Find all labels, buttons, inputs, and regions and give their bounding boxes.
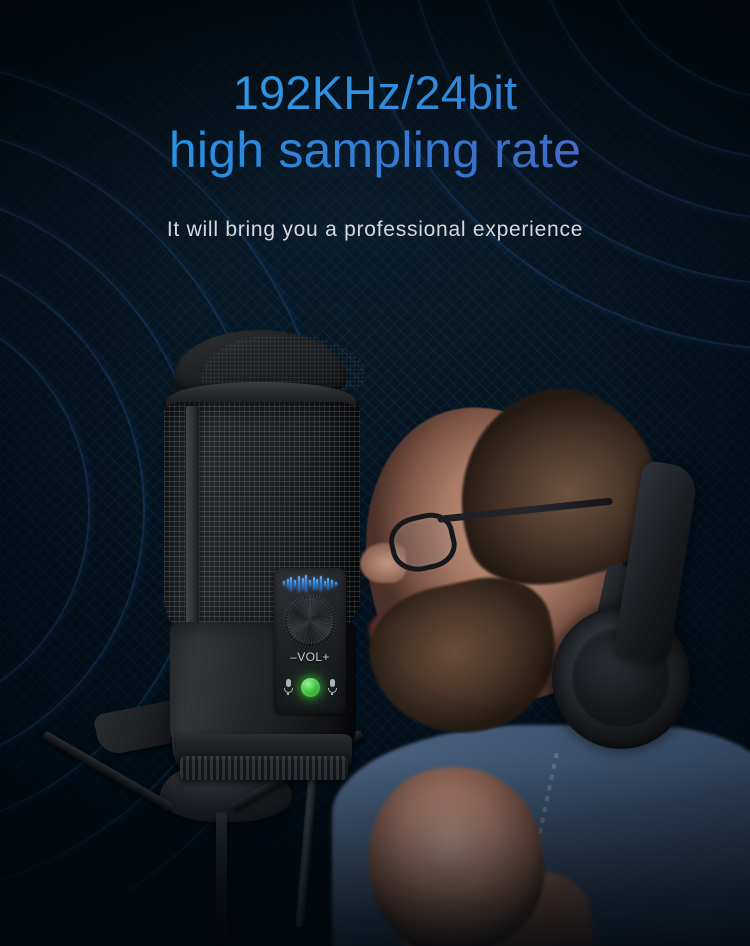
mute-button-row xyxy=(280,672,340,702)
volume-label: –VOL+ xyxy=(274,650,346,664)
shock-mount-knurled-ring[interactable] xyxy=(180,756,348,780)
product-banner: –VOL+ 192KHz/24bit high sampling xyxy=(0,0,750,946)
microphone: –VOL+ xyxy=(150,330,380,800)
headline-block: 192KHz/24bit high sampling rate xyxy=(0,66,750,179)
control-panel: –VOL+ xyxy=(274,568,346,714)
mute-status-led[interactable] xyxy=(301,678,320,697)
headline-line-1: 192KHz/24bit xyxy=(0,66,750,121)
microphone-icon xyxy=(327,679,337,695)
eyeglass-temple xyxy=(437,498,613,523)
tripod-center-column xyxy=(216,812,227,944)
audio-waveform-icon xyxy=(283,575,337,592)
grille-vertical-strip xyxy=(186,406,199,628)
volume-knob[interactable] xyxy=(287,598,333,644)
headline-line-2: high sampling rate xyxy=(0,121,750,180)
subheadline: It will bring you a professional experie… xyxy=(0,218,750,242)
microphone-icon xyxy=(283,679,293,695)
